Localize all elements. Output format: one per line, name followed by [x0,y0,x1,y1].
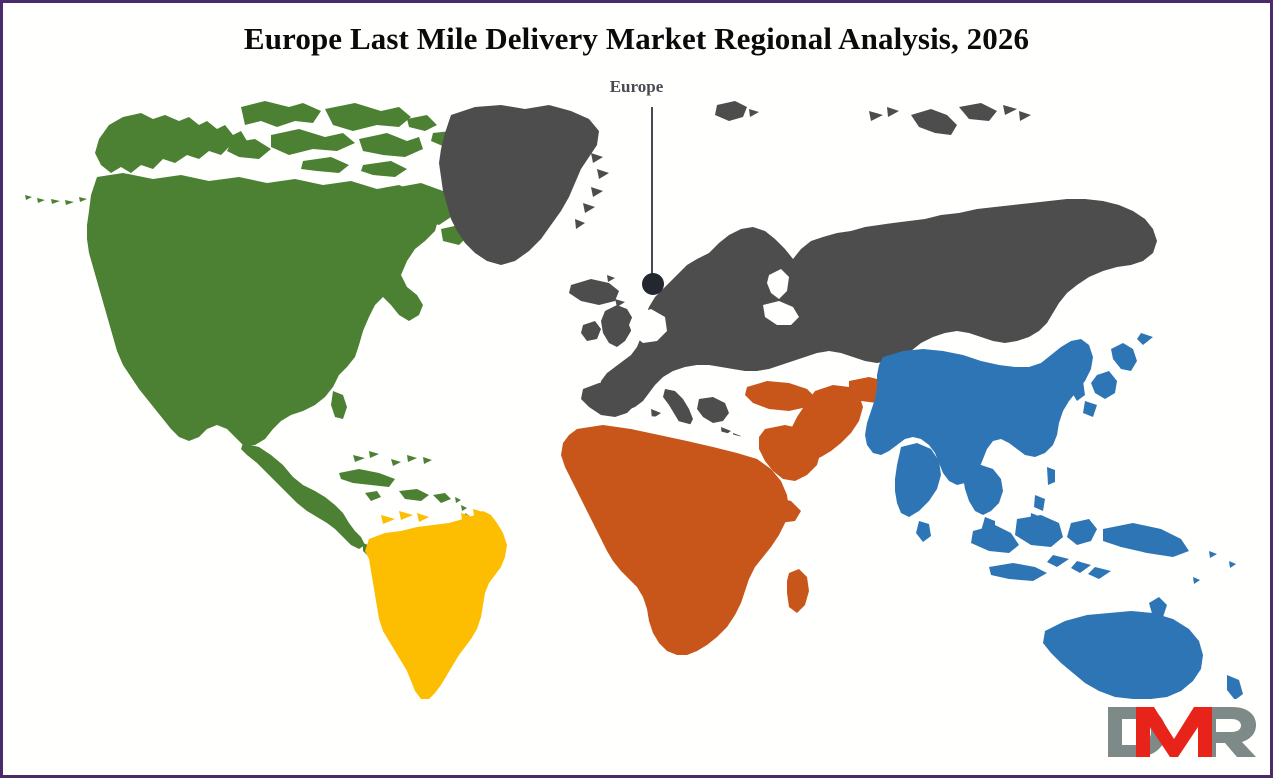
world-map [3,99,1270,699]
region-asia-pacific [865,333,1253,699]
dmr-logo-svg: DMR [1106,701,1256,763]
chart-canvas: Europe Last Mile Delivery Market Regiona… [0,0,1273,778]
page-title: Europe Last Mile Delivery Market Regiona… [3,21,1270,57]
dmr-logo: DMR [1106,701,1256,763]
world-map-svg [3,99,1270,699]
region-north-america [25,101,472,565]
europe-marker[interactable] [642,107,664,295]
logo-letter-m [1136,707,1212,757]
region-middle-east-africa [561,377,895,655]
region-latin-america [365,509,507,699]
chart-subtitle: Europe [3,77,1270,97]
marker-dot[interactable] [642,273,664,295]
